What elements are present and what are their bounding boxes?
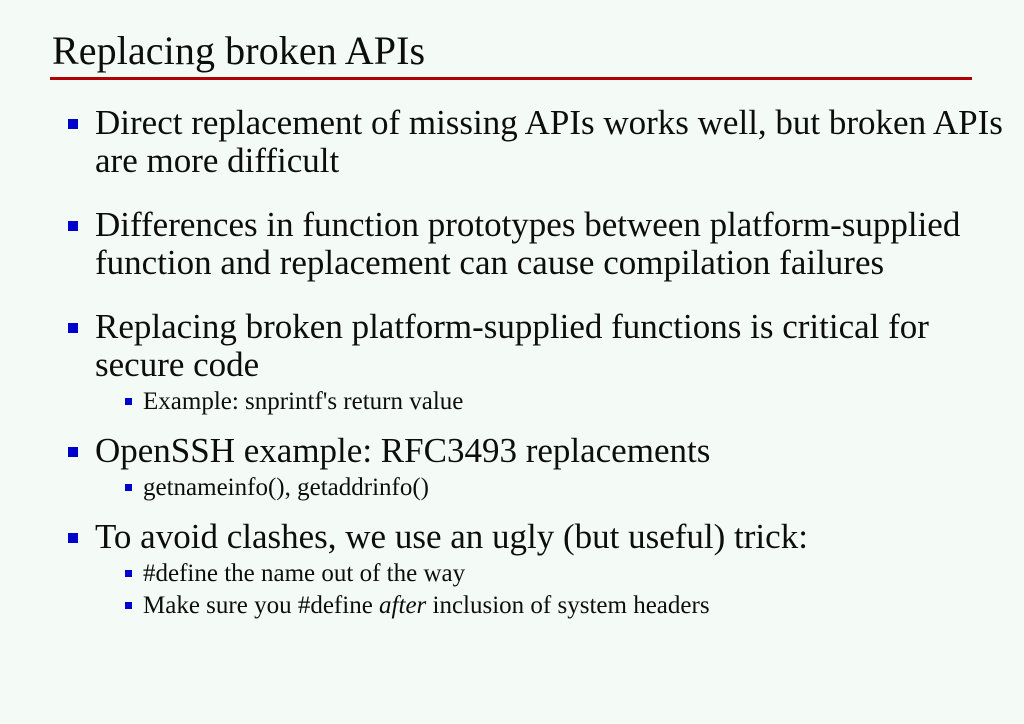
bullet-text: Direct replacement of missing APIs works…: [95, 104, 1014, 180]
sub-bullet-item: #define the name out of the way: [125, 558, 1014, 590]
sub-bullet-text-rich: Make sure you #define after inclusion of…: [143, 590, 1014, 622]
sub-bullet-list: Example: snprintf's return value: [68, 386, 1014, 418]
square-sub-bullet-icon: [125, 484, 132, 491]
bullet-group-2: Differences in function prototypes betwe…: [68, 206, 1014, 282]
square-bullet-icon: [68, 447, 78, 457]
sub-bullet-text: getnameinfo(), getaddrinfo(): [143, 472, 1014, 504]
sub-bullet-text: Example: snprintf's return value: [143, 386, 1014, 418]
square-bullet-icon: [68, 533, 78, 543]
sub-bullet-text: #define the name out of the way: [143, 558, 1014, 590]
square-bullet-icon: [68, 323, 78, 333]
bullet-item: OpenSSH example: RFC3493 replacements: [68, 432, 1014, 470]
sub-bullet-item: Make sure you #define after inclusion of…: [125, 590, 1014, 622]
slide-title-block: Replacing broken APIs: [50, 27, 972, 80]
bullet-item: To avoid clashes, we use an ugly (but us…: [68, 518, 1014, 556]
square-bullet-icon: [68, 221, 78, 231]
square-sub-bullet-icon: [125, 398, 132, 405]
bullet-text: Replacing broken platform-supplied funct…: [95, 308, 1014, 384]
bullet-item: Direct replacement of missing APIs works…: [68, 104, 1014, 180]
bullet-item: Differences in function prototypes betwe…: [68, 206, 1014, 282]
sub-bullet-item: getnameinfo(), getaddrinfo(): [125, 472, 1014, 504]
sub-bullet-item: Example: snprintf's return value: [125, 386, 1014, 418]
emphasized-word: after: [379, 592, 426, 619]
bullet-group-5: To avoid clashes, we use an ugly (but us…: [68, 518, 1014, 622]
page-title: Replacing broken APIs: [50, 27, 972, 76]
title-underline-rule: [50, 77, 972, 80]
bullet-item: Replacing broken platform-supplied funct…: [68, 308, 1014, 384]
square-bullet-icon: [68, 119, 78, 129]
sub-bullet-list: getnameinfo(), getaddrinfo(): [68, 472, 1014, 504]
bullet-group-3: Replacing broken platform-supplied funct…: [68, 308, 1014, 418]
slide-body: Direct replacement of missing APIs works…: [68, 104, 1014, 622]
bullet-group-1: Direct replacement of missing APIs works…: [68, 104, 1014, 180]
slide: Replacing broken APIs Direct replacement…: [0, 0, 1024, 724]
sub-bullet-list: #define the name out of the way Make sur…: [68, 558, 1014, 622]
square-sub-bullet-icon: [125, 602, 132, 609]
square-sub-bullet-icon: [125, 570, 132, 577]
bullet-text: Differences in function prototypes betwe…: [95, 206, 1014, 282]
bullet-text: OpenSSH example: RFC3493 replacements: [95, 432, 1014, 470]
bullet-group-4: OpenSSH example: RFC3493 replacements ge…: [68, 432, 1014, 504]
bullet-text: To avoid clashes, we use an ugly (but us…: [95, 518, 1014, 556]
